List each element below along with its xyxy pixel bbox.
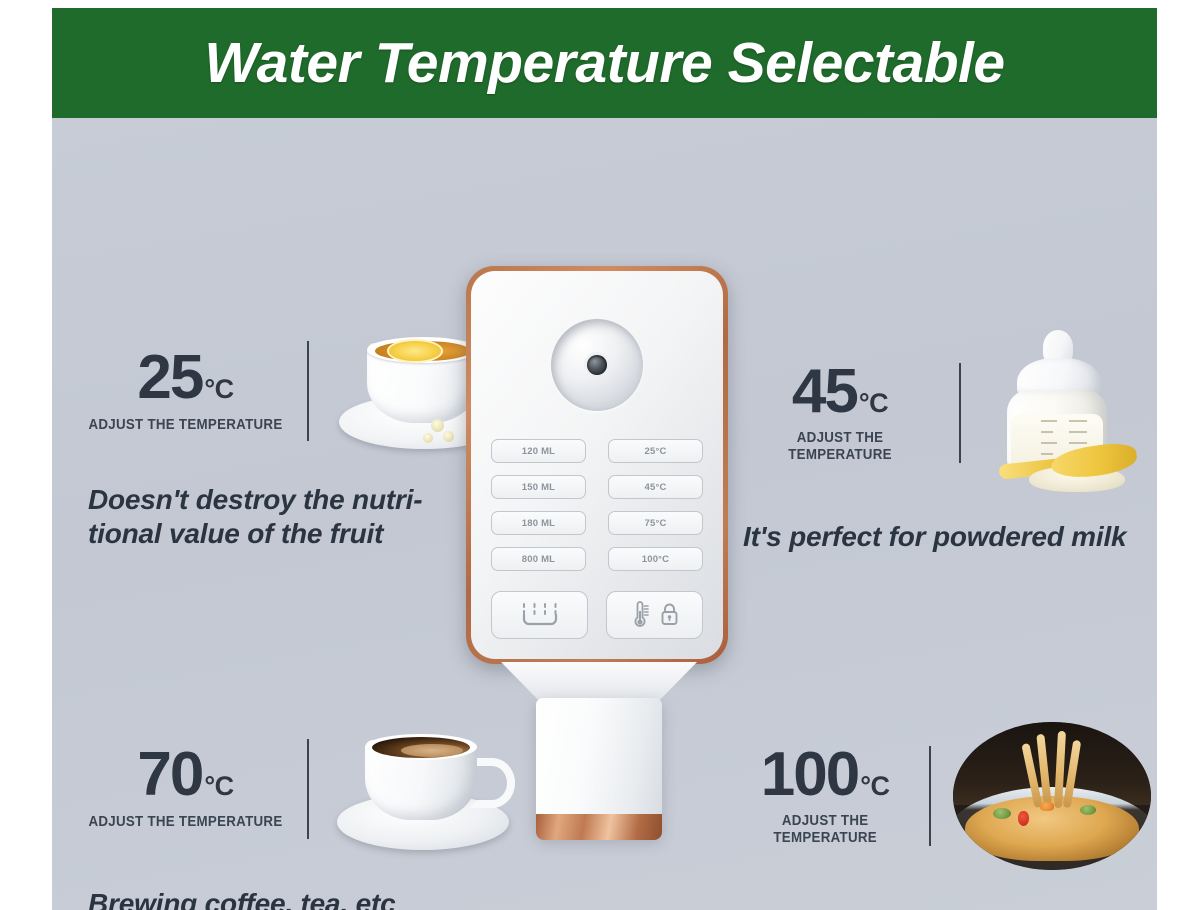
feature-caption-45c: It's perfect for powdered milk	[743, 520, 1157, 554]
feature-header-45c: 45 °C ADJUST THE TEMPERATURE	[737, 328, 1157, 498]
adjust-temperature-sublabel-25c: ADJUST THE TEMPERATURE	[88, 417, 282, 434]
feature-caption-70c: Brewing coffee, tea, etc	[88, 887, 520, 910]
container-rinse-button[interactable]	[491, 591, 588, 639]
temperature-value-25c: 25 °C	[137, 349, 233, 408]
container-rinse-icon	[519, 602, 561, 628]
chamomile-flower-icon	[443, 431, 454, 442]
adjust-temperature-sublabel-100c: ADJUST THE TEMPERATURE	[744, 813, 906, 846]
feature-header-100c: 100 °C ADJUST THE TEMPERATURE	[737, 716, 1157, 876]
instant-noodle-bowl-photo	[947, 716, 1157, 876]
vertical-divider-100c	[929, 746, 931, 846]
page-title: Water Temperature Selectable	[204, 30, 1004, 96]
device-icon-button-row	[491, 591, 703, 639]
vegetable-garnish-shape	[993, 808, 1011, 819]
temperature-number-45c: 45	[792, 363, 857, 422]
dispenser-nozzle-well	[551, 319, 643, 411]
temperature-label-100c: 100 °C ADJUST THE TEMPERATURE	[737, 746, 913, 847]
temperature-label-25c: 25 °C ADJUST THE TEMPERATURE	[80, 349, 291, 433]
temperature-button-75c[interactable]: 75°C	[608, 511, 703, 535]
feature-block-100c: 100 °C ADJUST THE TEMPERATURE	[737, 716, 1157, 910]
chamomile-flower-icon	[431, 419, 444, 432]
temperature-label-45c: 45 °C ADJUST THE TEMPERATURE	[737, 363, 943, 464]
volume-button-120ml[interactable]: 120 ML	[491, 439, 586, 463]
noodle-oval-crop	[953, 722, 1151, 870]
baby-bottle-photo	[977, 328, 1157, 498]
lemon-slice-shape	[387, 339, 443, 363]
adjust-temperature-sublabel-70c: ADJUST THE TEMPERATURE	[88, 814, 282, 831]
temperature-label-70c: 70 °C ADJUST THE TEMPERATURE	[80, 746, 291, 830]
temperature-number-70c: 70	[137, 746, 202, 805]
lock-icon	[660, 602, 679, 628]
device-face: 120 ML 25°C 150 ML 45°C 180 ML 75°C 800 …	[471, 271, 723, 659]
volume-button-800ml[interactable]: 800 ML	[491, 547, 586, 571]
product-infographic: Water Temperature Selectable 25 °C ADJUS…	[0, 0, 1200, 910]
adjust-temperature-sublabel-45c: ADJUST THE TEMPERATURE	[745, 430, 935, 463]
vertical-divider-45c	[959, 363, 961, 463]
temperature-unit-45c: °C	[859, 391, 888, 417]
temperature-unit-25c: °C	[204, 377, 233, 403]
temperature-lock-button[interactable]	[606, 591, 703, 639]
instant-hot-water-dispenser: 120 ML 25°C 150 ML 45°C 180 ML 75°C 800 …	[454, 266, 744, 876]
temperature-number-100c: 100	[761, 746, 858, 805]
feature-caption-100c: instant food	[743, 906, 1157, 910]
thermometer-icon	[630, 601, 650, 629]
temperature-unit-100c: °C	[860, 774, 889, 800]
header-banner: Water Temperature Selectable	[52, 8, 1157, 118]
temperature-button-100c[interactable]: 100°C	[608, 547, 703, 571]
chamomile-flower-icon	[423, 433, 433, 443]
volume-button-150ml[interactable]: 150 ML	[491, 475, 586, 499]
device-copper-ring	[536, 814, 662, 840]
control-button-grid: 120 ML 25°C 150 ML 45°C 180 ML 75°C 800 …	[491, 439, 703, 571]
vegetable-garnish-shape	[1080, 805, 1096, 815]
temperature-button-25c[interactable]: 25°C	[608, 439, 703, 463]
feature-block-45c: 45 °C ADJUST THE TEMPERATURE	[737, 328, 1157, 554]
temperature-unit-70c: °C	[204, 774, 233, 800]
volume-button-180ml[interactable]: 180 ML	[491, 511, 586, 535]
temperature-value-100c: 100 °C	[761, 746, 890, 805]
temperature-number-25c: 25	[137, 349, 202, 408]
vertical-divider-70c	[307, 739, 309, 839]
device-base-column	[536, 698, 662, 838]
device-front-panel: 120 ML 25°C 150 ML 45°C 180 ML 75°C 800 …	[466, 266, 728, 664]
temperature-button-45c[interactable]: 45°C	[608, 475, 703, 499]
dispenser-nozzle-hole	[587, 355, 607, 375]
infographic-canvas: 25 °C ADJUST THE TEMPERATURE	[52, 118, 1157, 910]
temperature-value-45c: 45 °C	[792, 363, 888, 422]
carrot-garnish-shape	[1040, 802, 1054, 811]
temperature-value-70c: 70 °C	[137, 746, 233, 805]
vertical-divider-25c	[307, 341, 309, 441]
